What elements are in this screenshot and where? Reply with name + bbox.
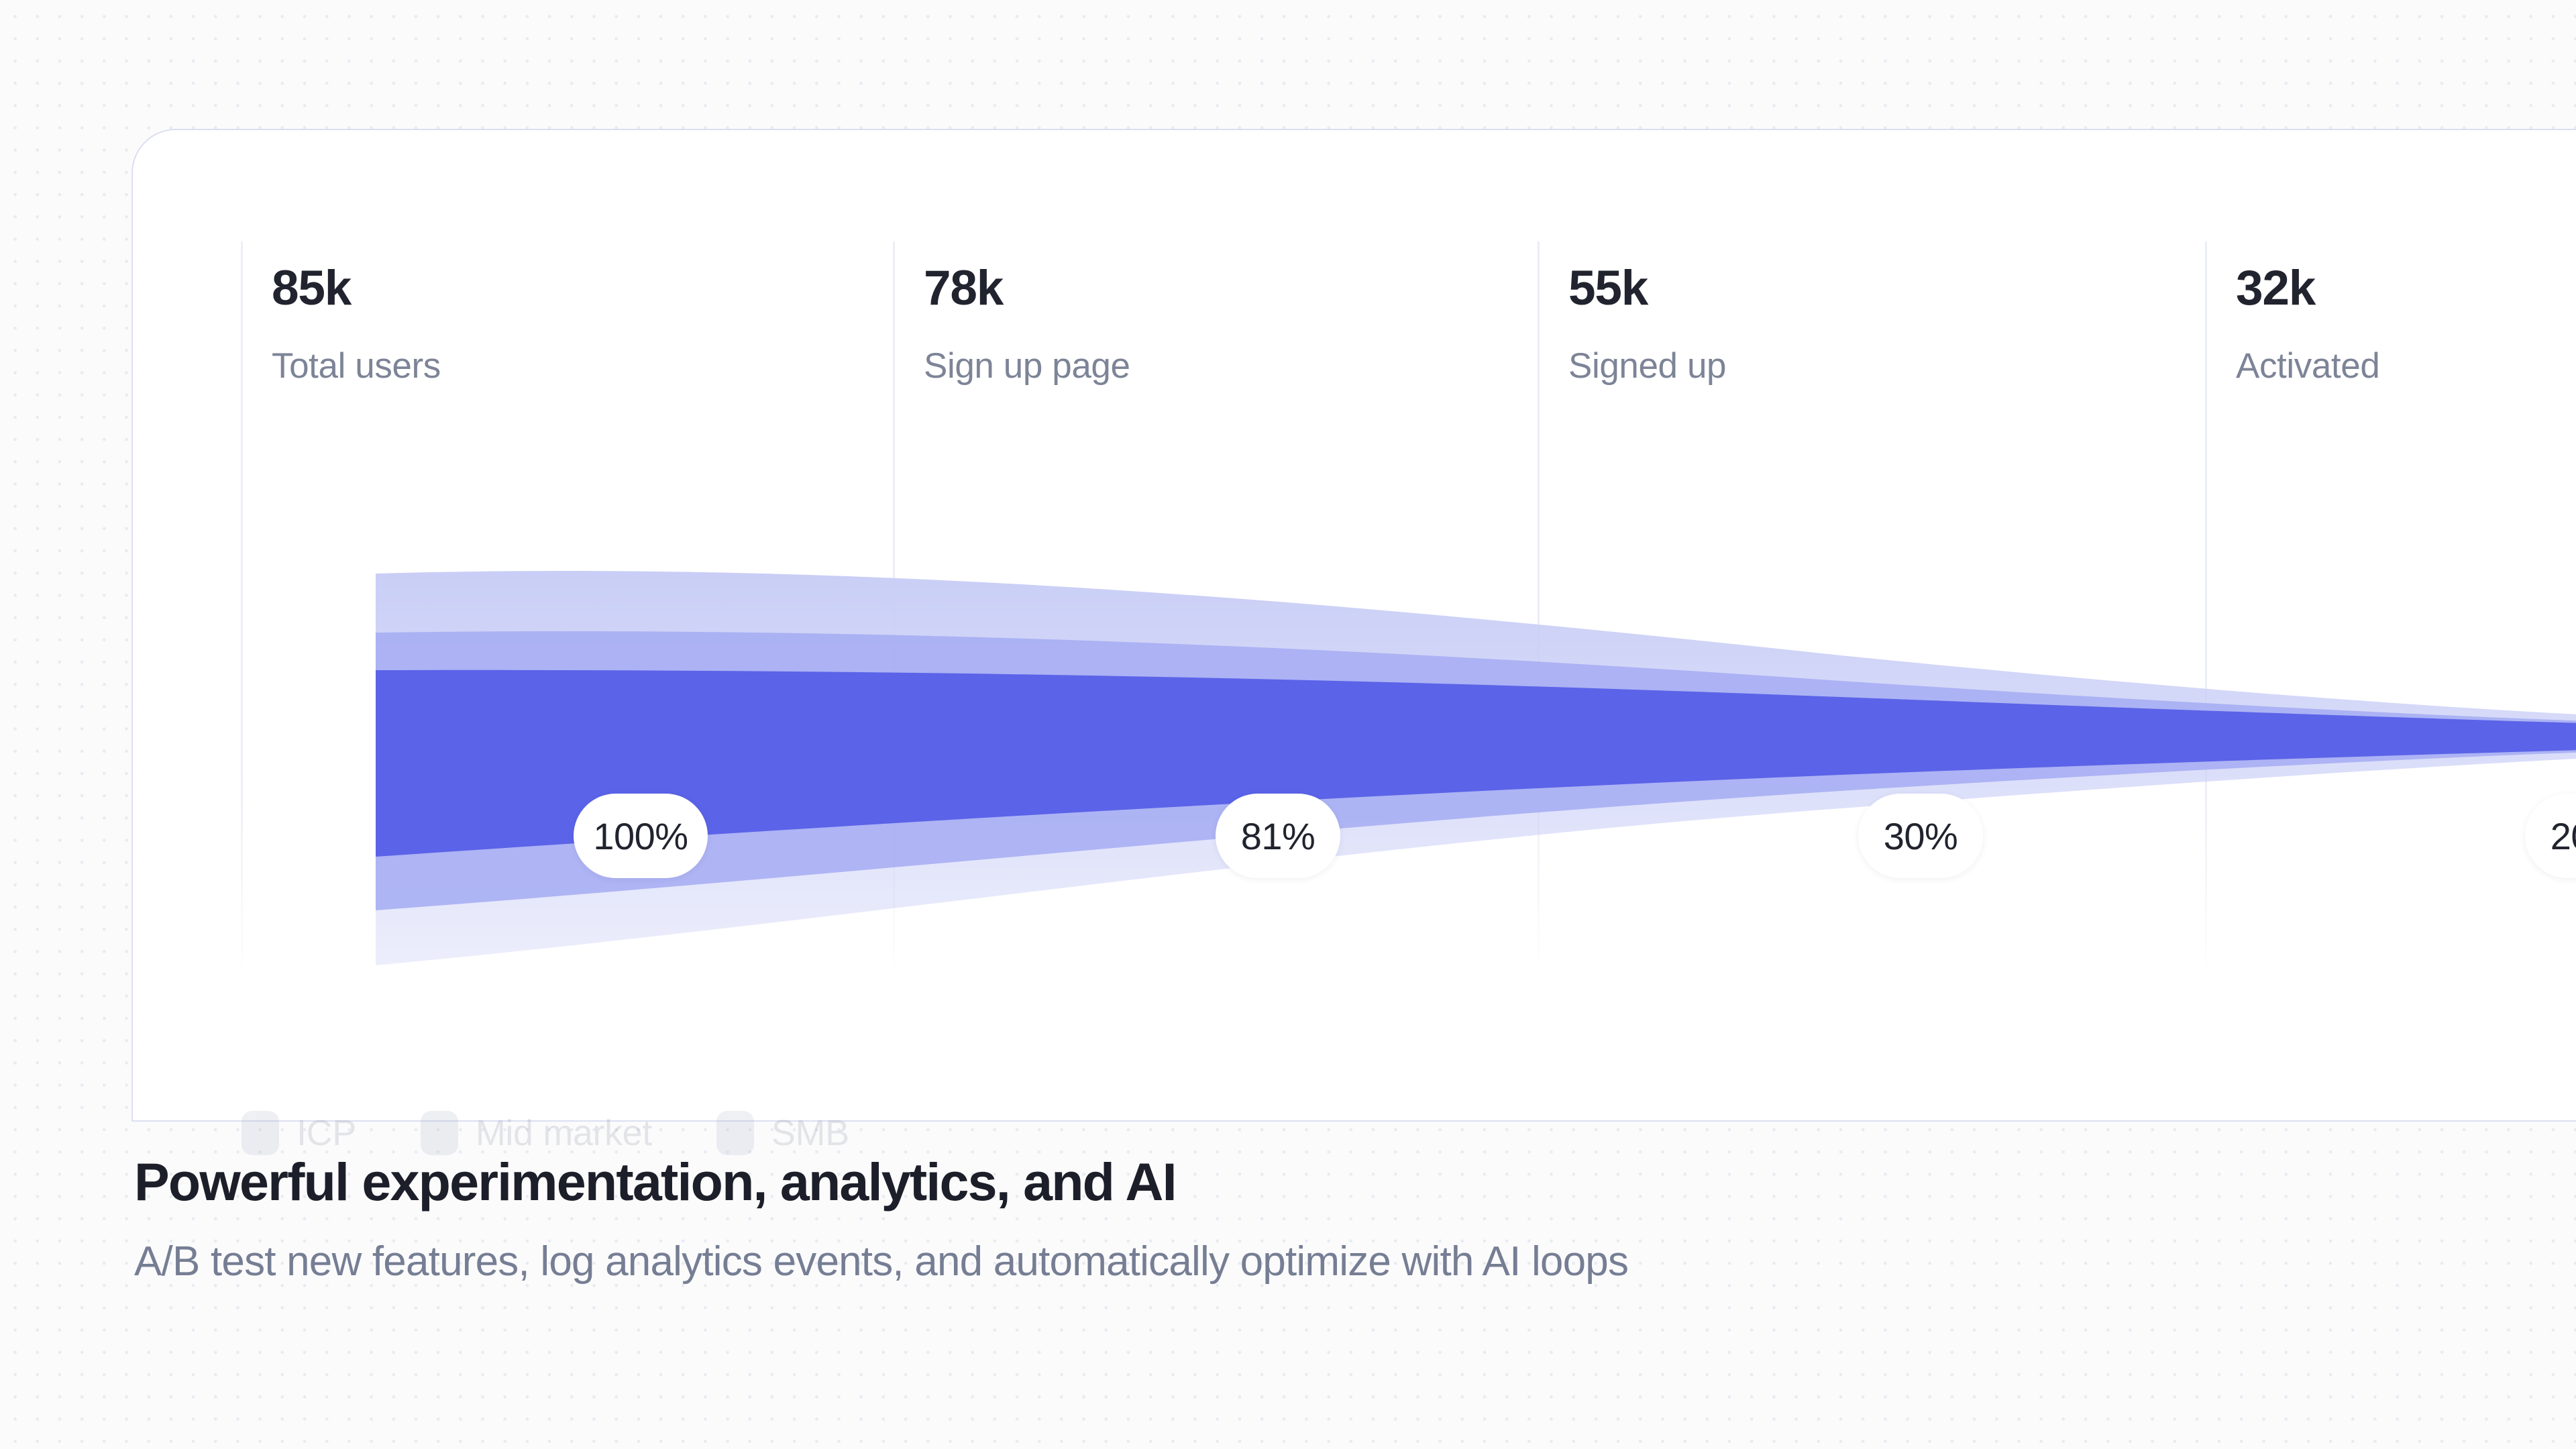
funnel-pill-1-label: 100% bbox=[593, 814, 688, 858]
caption-subheading: A/B test new features, log analytics eve… bbox=[134, 1237, 2482, 1287]
stat-value-2: 78k bbox=[924, 260, 1003, 316]
funnel-pill-3-label: 30% bbox=[1884, 814, 1958, 858]
funnel-pill-2-label: 81% bbox=[1241, 814, 1316, 858]
stat-value-1: 85k bbox=[272, 260, 351, 316]
funnel-pill-4-label: 20% bbox=[2551, 814, 2576, 858]
stat-label-3: Signed up bbox=[1568, 345, 1726, 386]
page-root: 85k Total users 78k Sign up page 55k Sig… bbox=[0, 0, 2576, 1449]
caption-heading: Powerful experimentation, analytics, and… bbox=[134, 1152, 2482, 1212]
caption-block: Powerful experimentation, analytics, and… bbox=[134, 1152, 2482, 1287]
funnel-card: 85k Total users 78k Sign up page 55k Sig… bbox=[131, 129, 2576, 1122]
stat-label-1: Total users bbox=[272, 345, 441, 386]
column-divider-1 bbox=[241, 241, 243, 979]
funnel-pill-3[interactable]: 30% bbox=[1858, 794, 1983, 878]
funnel-chart bbox=[244, 441, 2576, 971]
stat-value-3: 55k bbox=[1568, 260, 1648, 316]
stat-label-2: Sign up page bbox=[924, 345, 1130, 386]
funnel-bands-svg bbox=[244, 441, 2576, 971]
stat-label-4: Activated bbox=[2236, 345, 2379, 386]
stat-value-4: 32k bbox=[2236, 260, 2315, 316]
funnel-pill-2[interactable]: 81% bbox=[1216, 794, 1340, 878]
funnel-pill-1[interactable]: 100% bbox=[574, 794, 708, 878]
